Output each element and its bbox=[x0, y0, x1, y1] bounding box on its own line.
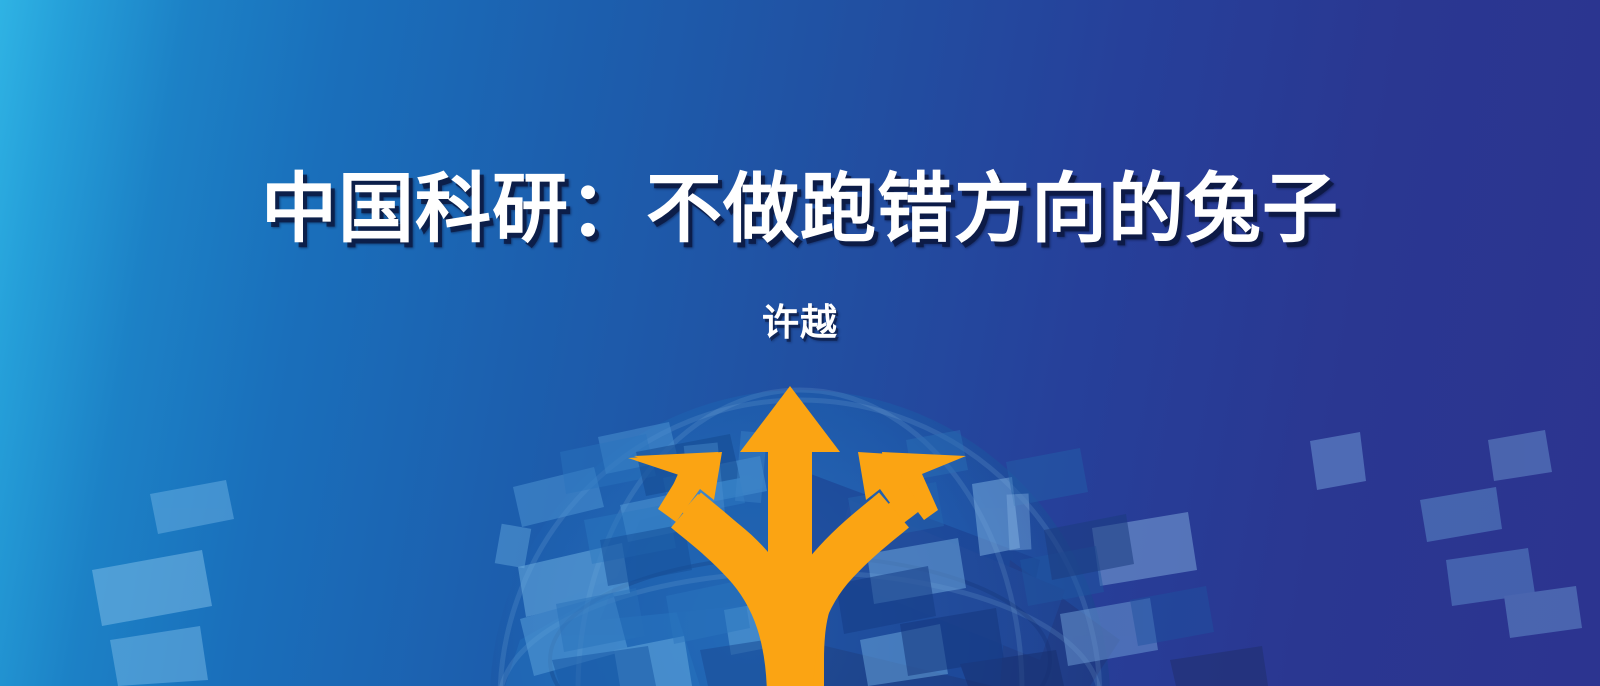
page-title: 中国科研：不做跑错方向的兔子 bbox=[0, 170, 1600, 249]
title-container: 中国科研：不做跑错方向的兔子 bbox=[0, 170, 1600, 249]
author-name: 许越 bbox=[0, 292, 1600, 346]
subtitle-container: 许越 bbox=[0, 292, 1600, 346]
presentation-slide: 中国科研：不做跑错方向的兔子 许越 bbox=[0, 0, 1600, 686]
